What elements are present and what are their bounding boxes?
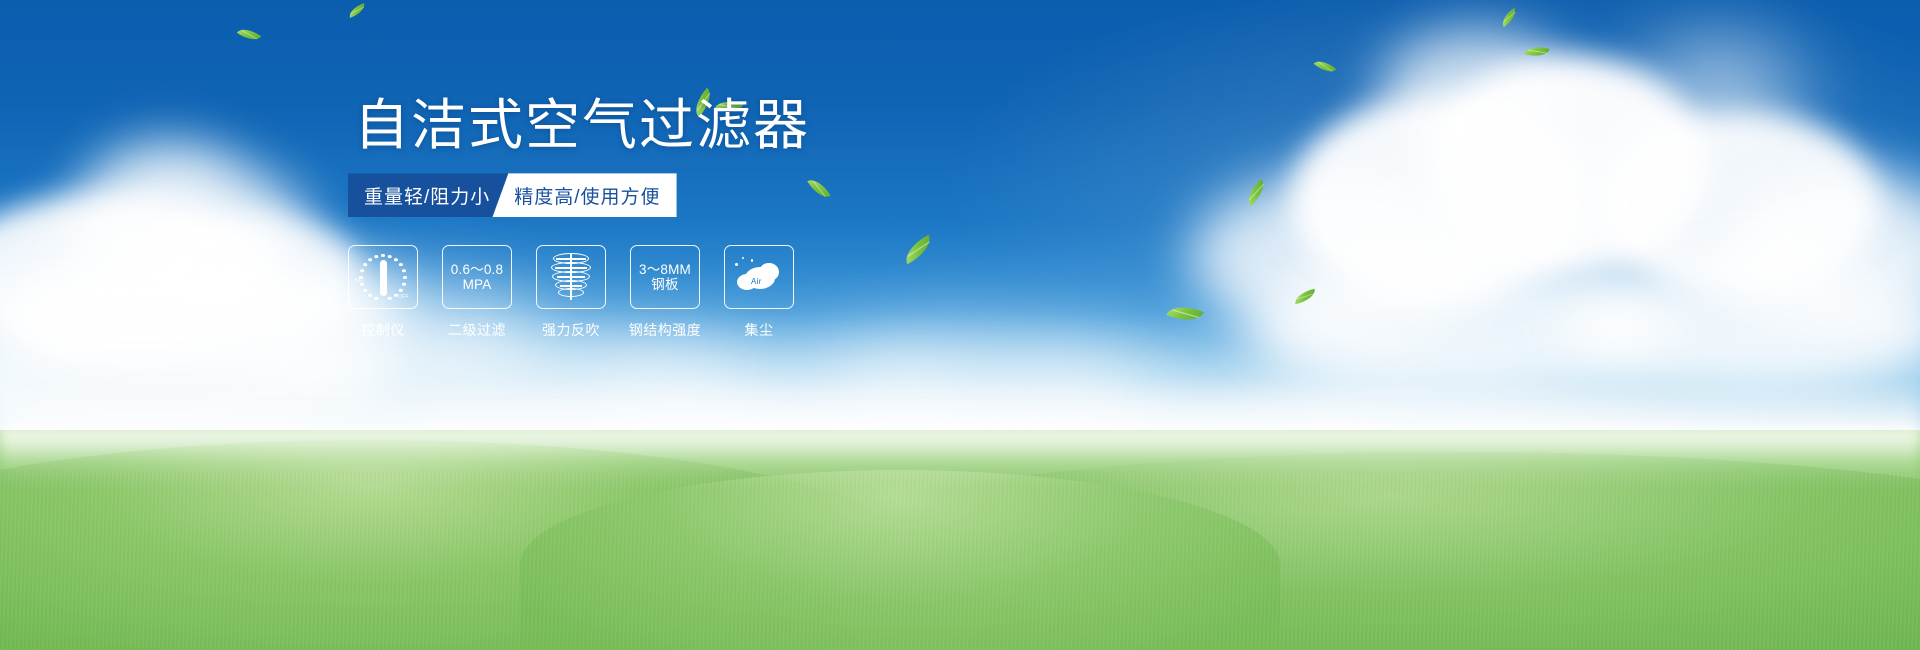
product-banner: 自洁式空气过滤器 重量轻/阻力小 精度高/使用方便: [0, 0, 1920, 650]
cloud-shape: [1430, 55, 1710, 275]
cloud-shape: [1190, 175, 1490, 340]
cloud-shape: [150, 215, 360, 335]
feature-caption: 二级过滤: [448, 320, 506, 340]
leaf-icon: [237, 24, 261, 46]
cloud-shape: [1640, 40, 1800, 150]
dust-cloud-icon: Air: [735, 257, 783, 297]
pressure-value-line1: 0.6～0.8: [451, 262, 503, 278]
grass-texture: [0, 470, 1920, 650]
badge-group: 重量轻/阻力小 精度高/使用方便: [348, 173, 671, 217]
feature-caption: 强力反吹: [542, 320, 600, 340]
leaf-icon: [1242, 179, 1270, 206]
air-label: Air: [751, 277, 762, 286]
feature-item-blowback: 强力反吹: [536, 245, 606, 340]
filter-coil-icon: [548, 252, 594, 302]
feature-icon-box: 0.6～0.8 MPA: [442, 245, 512, 309]
steel-value-line2: 钢板: [651, 277, 678, 293]
leaf-icon: [1314, 56, 1337, 77]
cloud-shape: [1720, 170, 1920, 330]
feature-item-dust: Air 集尘: [724, 245, 794, 340]
cloud-shape: [0, 195, 270, 360]
badge-feature-1: 重量轻/阻力小: [348, 173, 508, 217]
dial-label-off: OFF: [398, 294, 409, 300]
leaf-icon: [1166, 299, 1204, 327]
banner-content: 自洁式空气过滤器 重量轻/阻力小 精度高/使用方便: [348, 96, 1088, 340]
feature-item-control: NO OFF 控制仪: [348, 245, 418, 340]
dial-needle: [380, 260, 387, 296]
leaf-icon: [1498, 8, 1520, 27]
feature-icon-box: [536, 245, 606, 309]
control-dial-icon: NO OFF: [356, 250, 410, 304]
steel-value-line1: 3～8MM: [639, 262, 691, 278]
feature-icon-box: 3～8MM 钢板: [630, 245, 700, 309]
cloud-shape: [1290, 95, 1590, 305]
feature-item-steel: 3～8MM 钢板 钢结构强度: [630, 245, 700, 340]
feature-list: NO OFF 控制仪 0.6～0.8 MPA 二级过滤: [348, 245, 1088, 340]
cloud-shape: [1560, 255, 1920, 400]
cloud-shape: [1600, 110, 1880, 300]
leaf-icon: [347, 3, 367, 18]
feature-icon-box: NO OFF: [348, 245, 418, 309]
cloud-shape: [60, 160, 310, 310]
page-title: 自洁式空气过滤器: [354, 96, 1088, 155]
leaf-icon: [1293, 289, 1317, 304]
badge-feature-2: 精度高/使用方便: [492, 173, 676, 217]
leaf-icon: [1524, 43, 1550, 60]
feature-caption: 钢结构强度: [629, 320, 702, 340]
pressure-value-line2: MPA: [463, 277, 492, 293]
cloud-shape: [1250, 250, 1670, 400]
feature-caption: 控制仪: [361, 320, 405, 340]
feature-item-pressure: 0.6～0.8 MPA 二级过滤: [442, 245, 512, 340]
feature-icon-box: Air: [724, 245, 794, 309]
dial-label-no: NO: [355, 278, 363, 284]
cloud-shape: [95, 140, 235, 230]
feature-caption: 集尘: [745, 320, 774, 340]
